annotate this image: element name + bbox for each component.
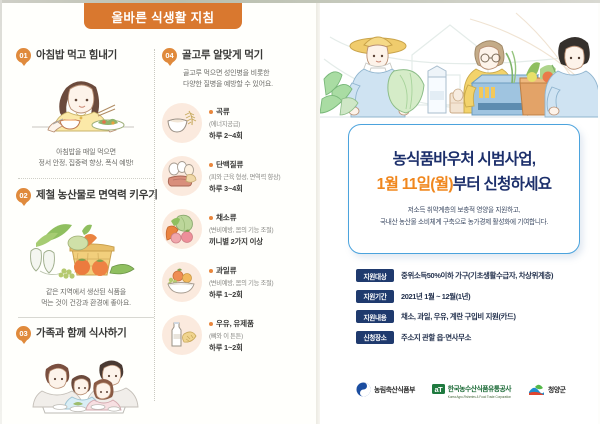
announcement-subtext: 저소득 취약계층의 보충적 영양을 지원하고, 국내산 농산물 소비체계 구축으…: [380, 205, 548, 228]
fruit-bowl-icon: [162, 262, 202, 302]
food-group-note: (변비예방, 몸의 기능 조절): [209, 278, 273, 287]
footer-logos: 농림축산식품부 aT 한국농수산식품유통공사 Korea Agro-Fisher…: [356, 378, 594, 400]
food-group-row: 우유, 유제품 (뼈와 이 튼튼) 하루 1~2회: [162, 315, 310, 355]
food-group-row: 과일류 (변비예방, 몸의 기능 조절) 하루 1~2회: [162, 262, 310, 302]
announcement-headline-line2: 1월 11일(월)부터 신청하세요: [377, 172, 552, 194]
meat-egg-icon: [162, 156, 202, 196]
guideline-heading: 02 제철 농산물로 면역력 키우기: [16, 187, 156, 203]
food-group-note: (피와 근육 형성, 면역력 향상): [209, 172, 280, 181]
program-details-list: 지원대상 중위소득50%이하 가구(기초생활수급자, 차상위계층) 지원기간 2…: [356, 269, 596, 351]
guideline-item-03: 03 가족과 함께 식사하기: [16, 325, 156, 424]
step-number-badge: 04: [162, 48, 177, 63]
detail-row: 신청장소 주소지 관할 읍·면사무소: [356, 331, 596, 344]
food-group-note: (뼈와 이 튼튼): [209, 331, 254, 340]
guideline-heading-04: 04 골고루 알맞게 먹기: [162, 47, 310, 63]
caption-line: 정서 안정, 집중력 향상, 폭식 예방!: [16, 159, 156, 170]
food-group-meta: 단백질류 (피와 근육 형성, 면역력 향상) 하루 3~4회: [209, 159, 280, 194]
bullet-dot-icon: [209, 269, 213, 273]
detail-value: 주소지 관할 읍·면사무소: [401, 332, 471, 343]
logo-label-group: 한국농수산식품유통공사 Korea Agro-Fisheries & Food …: [448, 379, 511, 400]
guideline-title: 가족과 함께 식사하기: [36, 325, 127, 340]
subtext-line: 국내산 농산물 소비체계 구축으로 농가경제 활성화에 기여합니다.: [380, 217, 548, 229]
guideline-heading: 01 아침밥 먹고 힘내기: [16, 47, 156, 63]
food-group-name: 단백질류: [216, 159, 243, 170]
lede-line: 다양한 질병을 예방할 수 있어요.: [183, 79, 310, 90]
subtext-line: 저소득 취약계층의 보충적 영양을 지원하고,: [380, 205, 548, 217]
step-number-badge: 03: [16, 326, 31, 341]
food-group-meta: 곡류 (에너지공급) 하루 2~4회: [209, 106, 243, 141]
caption-line: 아침밥을 매일 먹으면: [16, 148, 156, 159]
guideline-title: 골고루 알맞게 먹기: [182, 47, 263, 62]
food-group-name: 곡류: [216, 106, 230, 117]
logo-label: 한국농수산식품유통공사: [448, 386, 511, 393]
food-group-name: 과일류: [216, 265, 236, 276]
food-group-meta: 채소류 (변비예방, 몸의 기능 조절) 끼니별 2가지 이상: [209, 212, 273, 247]
announcement-headline-line1: 농식품바우처 시범사업,: [393, 147, 536, 169]
detail-value: 2021년 1월 ~ 12월(1년): [401, 291, 470, 302]
banner-title: 올바른 식생활 지침: [112, 7, 215, 26]
step-number-badge: 01: [16, 48, 31, 63]
guideline-title: 제철 농산물로 면역력 키우기: [36, 187, 158, 202]
woman-eating-breakfast-illustration: [16, 69, 156, 143]
announcement-headline-rest: 부터 신청하세요: [453, 176, 552, 193]
food-group-name: 채소류: [216, 212, 236, 223]
row-divider: [18, 317, 154, 318]
food-group-name-row: 채소류: [209, 212, 273, 223]
food-group-note: (에너지공급): [209, 119, 243, 128]
milk-bottle-icon: [162, 315, 202, 355]
cheongyang-mark: [528, 383, 545, 396]
food-group-row: 채소류 (변비예방, 몸의 기능 조절) 끼니별 2가지 이상: [162, 209, 310, 249]
grain-bowl-icon: [162, 103, 202, 143]
food-group-frequency: 하루 1~2회: [209, 289, 273, 300]
detail-row: 지원대상 중위소득50%이하 가구(기초생활수급자, 차상위계층): [356, 269, 596, 282]
detail-tag: 지원대상: [356, 269, 394, 282]
food-group-name-row: 단백질류: [209, 159, 280, 170]
caption-line: 먹는 것이 건강과 환경에 좋아요.: [16, 299, 156, 310]
bullet-dot-icon: [209, 322, 213, 326]
detail-tag: 지원기간: [356, 290, 394, 303]
bullet-dot-icon: [209, 216, 213, 220]
taegeuk-mark: [356, 382, 371, 397]
logo-ministry-of-agriculture: 농림축산식품부: [356, 382, 415, 397]
food-group-meta: 우유, 유제품 (뼈와 이 튼튼) 하루 1~2회: [209, 318, 254, 353]
guideline-item-01: 01 아침밥 먹고 힘내기: [16, 47, 156, 170]
guidelines-column-right: 04 골고루 알맞게 먹기 골고루 먹으면 성인병을 비롯한 다양한 질병을 예…: [162, 47, 310, 355]
guideline-lede: 골고루 먹으면 성인병을 비롯한 다양한 질병을 예방할 수 있어요.: [183, 68, 310, 90]
bullet-dot-icon: [209, 163, 213, 167]
announcement-date-highlight: 1월 11일(월): [377, 176, 453, 193]
guideline-heading: 03 가족과 함께 식사하기: [16, 325, 156, 341]
food-group-row: 곡류 (에너지공급) 하루 2~4회: [162, 103, 310, 143]
right-panel-voucher-announcement: 농식품바우처 시범사업, 1월 11일(월)부터 신청하세요 저소득 취약계층의…: [320, 3, 598, 424]
vegetables-icon: [162, 209, 202, 249]
detail-tag: 지원내용: [356, 310, 394, 323]
detail-tag: 신청장소: [356, 331, 394, 344]
guideline-caption: 같은 지역에서 생산된 식품을 먹는 것이 건강과 환경에 좋아요.: [16, 288, 156, 310]
banner-header: 올바른 식생활 지침: [84, 3, 242, 29]
logo-at-korea-agro-fisheries: aT 한국농수산식품유통공사 Korea Agro-Fisheries & Fo…: [432, 379, 511, 400]
step-number-badge: 02: [16, 188, 31, 203]
left-panel-dietary-guidelines: 올바른 식생활 지침 01 아침밥 먹고 힘내기: [2, 3, 316, 424]
at-mark: aT: [432, 384, 445, 394]
food-group-meta: 과일류 (변비예방, 몸의 기능 조절) 하루 1~2회: [209, 265, 273, 300]
food-group-name-row: 우유, 유제품: [209, 318, 254, 329]
food-group-name-row: 곡류: [209, 106, 243, 117]
logo-cheongyang-county: 청양군: [528, 383, 566, 396]
guideline-item-02: 02 제철 농산물로 면역력 키우기: [16, 187, 156, 310]
guidelines-column-left: 01 아침밥 먹고 힘내기: [16, 47, 156, 424]
food-group-frequency: 하루 1~2회: [209, 342, 254, 353]
food-group-frequency: 하루 2~4회: [209, 130, 243, 141]
food-group-row: 단백질류 (피와 근육 형성, 면역력 향상) 하루 3~4회: [162, 156, 310, 196]
logo-label: 농림축산식품부: [374, 384, 415, 394]
lede-line: 골고루 먹으면 성인병을 비롯한: [183, 68, 310, 79]
food-group-note: (변비예방, 몸의 기능 조절): [209, 225, 273, 234]
farmer-and-shoppers-with-groceries-illustration: [320, 7, 598, 133]
food-group-name-row: 과일류: [209, 265, 273, 276]
caption-line: 같은 지역에서 생산된 식품을: [16, 288, 156, 299]
detail-value: 채소, 과일, 우유, 계란 구입비 지원(카드): [401, 311, 516, 322]
food-group-name: 우유, 유제품: [216, 318, 254, 329]
logo-subtitle: Korea Agro-Fisheries & Food Trade Corpor…: [448, 396, 511, 399]
row-divider: [18, 178, 154, 179]
family-dining-illustration: [16, 347, 156, 423]
detail-row: 지원내용 채소, 과일, 우유, 계란 구입비 지원(카드): [356, 310, 596, 323]
announcement-card: 농식품바우처 시범사업, 1월 11일(월)부터 신청하세요 저소득 취약계층의…: [348, 124, 580, 254]
guideline-caption: 아침밥을 매일 먹으면 정서 안정, 집중력 향상, 폭식 예방!: [16, 148, 156, 170]
vegetable-basket-illustration: [16, 209, 156, 283]
detail-row: 지원기간 2021년 1월 ~ 12월(1년): [356, 290, 596, 303]
bullet-dot-icon: [209, 110, 213, 114]
food-group-frequency: 끼니별 2가지 이상: [209, 236, 273, 247]
logo-label: 청양군: [548, 384, 566, 394]
detail-value: 중위소득50%이하 가구(기초생활수급자, 차상위계층): [401, 270, 553, 281]
food-group-frequency: 하루 3~4회: [209, 183, 280, 194]
guideline-title: 아침밥 먹고 힘내기: [36, 47, 117, 62]
poster-page: 올바른 식생활 지침 01 아침밥 먹고 힘내기: [0, 0, 600, 424]
